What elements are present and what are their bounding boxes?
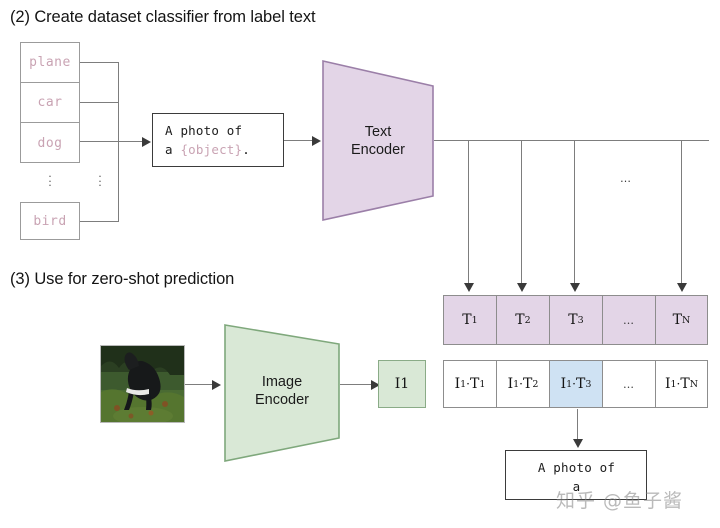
- image-embedding-box[interactable]: I1: [378, 360, 426, 408]
- arrow-down-tn: [677, 283, 687, 292]
- arrow-to-image-encoder: [212, 380, 221, 390]
- text-embedding-cell-1-base: T: [462, 312, 471, 328]
- similarity-ellipsis: …: [623, 378, 635, 391]
- figure-canvas: (2) Create dataset classifier from label…: [0, 0, 720, 528]
- label-bus-line: [118, 62, 119, 222]
- drop-line-t2: [521, 140, 522, 285]
- prompt-object-token: {object}: [180, 142, 242, 157]
- text-embedding-cell-2-base: T: [515, 312, 524, 328]
- similarity-cell-2[interactable]: I1·T2: [496, 360, 549, 408]
- prompt-line-1: A photo of: [165, 121, 272, 140]
- drop-line-tn: [681, 140, 682, 285]
- label-stack: plane car dog: [20, 42, 80, 163]
- similarity-cell-1[interactable]: I1·T1: [443, 360, 496, 408]
- arrow-down-t3: [570, 283, 580, 292]
- prompt-to-text-encoder-line: [284, 140, 312, 141]
- text-embedding-cell-n-base: T: [673, 312, 682, 328]
- label-connector-bird: [80, 221, 118, 222]
- zhihu-watermark: 知乎 @鱼子酱: [556, 486, 683, 513]
- text-encoder-label-line2: Encoder: [351, 141, 405, 159]
- prompt-line-2-suffix: .: [242, 142, 250, 157]
- text-embeddings-row: T1 T2 T3 … TN: [443, 295, 708, 345]
- similarity-cell-3-selected[interactable]: I1·T3: [549, 360, 602, 408]
- text-embedding-cell-2[interactable]: T2: [496, 295, 549, 345]
- text-embedding-cell-2-sub: 2: [525, 315, 531, 326]
- text-embedding-cell-n[interactable]: TN: [655, 295, 708, 345]
- prompt-template-box[interactable]: A photo of a {object}.: [152, 113, 284, 167]
- label-connector-car: [80, 102, 118, 103]
- section-title-create-classifier: (2) Create dataset classifier from label…: [10, 8, 315, 27]
- image-to-encoder-line: [185, 384, 212, 385]
- label-ellipsis-right: ...: [92, 172, 108, 186]
- selected-to-result-line: [577, 409, 578, 441]
- text-embedding-cell-ellipsis: …: [602, 295, 655, 345]
- arrow-down-t2: [517, 283, 527, 292]
- similarity-cell-1-rsub: 1: [479, 379, 485, 390]
- similarity-cell-1-right: T: [470, 376, 479, 392]
- text-embedding-cell-n-sub: N: [682, 315, 690, 326]
- text-embedding-cell-3-sub: 3: [578, 315, 584, 326]
- input-image-thumbnail[interactable]: [100, 345, 185, 423]
- prompt-line-2: a {object}.: [165, 140, 272, 159]
- arrow-to-result-box: [573, 439, 583, 448]
- similarity-cell-ellipsis: …: [602, 360, 655, 408]
- label-item-plane[interactable]: plane: [21, 43, 79, 83]
- similarity-cell-3-right: T: [576, 376, 585, 392]
- similarity-cell-n-rsub: N: [690, 379, 698, 390]
- similarity-row: I1·T1 I1·T2 I1·T3 … I1·TN: [443, 360, 708, 408]
- text-embedding-cell-1[interactable]: T1: [443, 295, 496, 345]
- label-connector-dog: [80, 141, 118, 142]
- text-encoder-label: Text Encoder: [351, 123, 405, 159]
- input-image-content: [101, 346, 184, 422]
- similarity-cell-3-rsub: 3: [585, 379, 591, 390]
- text-embedding-ellipsis: …: [623, 314, 635, 327]
- text-embedding-cell-3[interactable]: T3: [549, 295, 602, 345]
- image-encoder-block[interactable]: Image Encoder: [222, 322, 342, 464]
- label-item-bird[interactable]: bird: [20, 202, 80, 240]
- image-encoder-label-line1: Image: [255, 373, 309, 391]
- label-bus-to-prompt: [118, 141, 142, 142]
- text-embedding-bus: [434, 140, 709, 141]
- arrow-to-prompt-box: [142, 137, 151, 147]
- similarity-cell-2-right: T: [523, 376, 532, 392]
- section-title-zero-shot: (3) Use for zero-shot prediction: [10, 270, 234, 289]
- drop-line-t1: [468, 140, 469, 285]
- label-ellipsis-left: ...: [42, 172, 58, 186]
- prediction-line-1: A photo of: [518, 458, 635, 477]
- drop-line-t3: [574, 140, 575, 285]
- arrow-down-t1: [464, 283, 474, 292]
- text-embedding-cell-1-sub: 1: [472, 315, 478, 326]
- prompt-line-2-prefix: a: [165, 142, 180, 157]
- image-embedding-sub: 1: [400, 376, 409, 392]
- label-connector-plane: [80, 62, 118, 63]
- label-item-car[interactable]: car: [21, 83, 79, 123]
- similarity-cell-2-rsub: 2: [532, 379, 538, 390]
- text-embedding-cell-3-base: T: [568, 312, 577, 328]
- image-encoder-label: Image Encoder: [255, 373, 309, 409]
- image-encoder-label-line2: Encoder: [255, 391, 309, 409]
- similarity-cell-n[interactable]: I1·TN: [655, 360, 708, 408]
- label-item-dog[interactable]: dog: [21, 123, 79, 164]
- text-encoder-block[interactable]: Text Encoder: [320, 58, 436, 223]
- text-encoder-label-line1: Text: [351, 123, 405, 141]
- encoder-to-i1-line: [340, 384, 371, 385]
- similarity-cell-n-right: T: [680, 376, 689, 392]
- bus-ellipsis: …: [620, 172, 632, 185]
